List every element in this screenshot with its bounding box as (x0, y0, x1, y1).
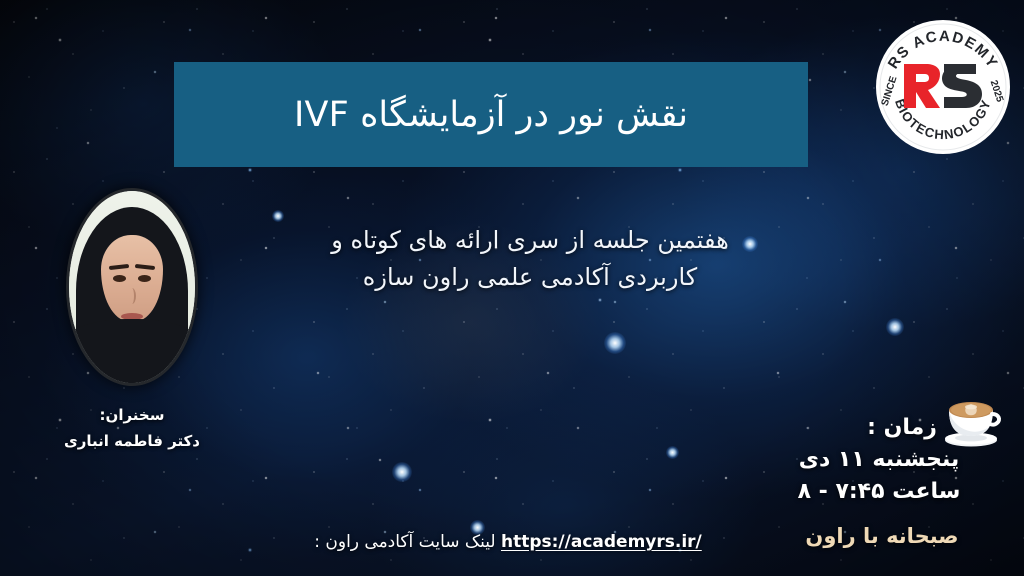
academy-website-link[interactable]: https://academyrs.ir/ (501, 532, 702, 552)
speaker-label: سخنران: (62, 402, 202, 428)
rs-academy-logo: RS ACADEMY BIOTECHNOLOGY SINCE 2025 (870, 14, 1016, 160)
speaker-caption: سخنران: دکتر فاطمه انباری (62, 402, 202, 455)
event-hours: ساعت ۷:۴۵ - ۸ (754, 476, 1004, 508)
subtitle-line-2: کاربردی آکادمی علمی راون سازه (250, 259, 810, 296)
portrait-face (101, 235, 163, 321)
portrait-eye-left (113, 275, 126, 282)
footer-link-label: لینک سایت آکادمی راون : (314, 532, 495, 552)
subtitle-block: هفتمین جلسه از سری ارائه های کوتاه و کار… (250, 222, 810, 296)
poster-canvas: نقش نور در آزمایشگاه IVF هفتمین جلسه از … (0, 0, 1024, 576)
speaker-block: سخنران: دکتر فاطمه انباری (62, 188, 202, 455)
speaker-name: دکتر فاطمه انباری (62, 428, 202, 454)
page-title: نقش نور در آزمایشگاه IVF (294, 94, 688, 136)
portrait-nose (128, 288, 136, 304)
portrait-eye-right (138, 275, 151, 282)
event-date: پنجشنبه ۱۱ دی (754, 444, 1004, 476)
speaker-portrait-photo (66, 188, 198, 386)
title-banner: نقش نور در آزمایشگاه IVF (174, 62, 808, 167)
footer-link-row: https://academyrs.ir/ لینک سایت آکادمی ر… (0, 532, 1024, 552)
time-label: زمان : (754, 412, 1004, 444)
subtitle-line-1: هفتمین جلسه از سری ارائه های کوتاه و (250, 222, 810, 259)
time-block: زمان : پنجشنبه ۱۱ دی ساعت ۷:۴۵ - ۸ (754, 412, 1004, 508)
portrait-shoulders (66, 319, 198, 386)
